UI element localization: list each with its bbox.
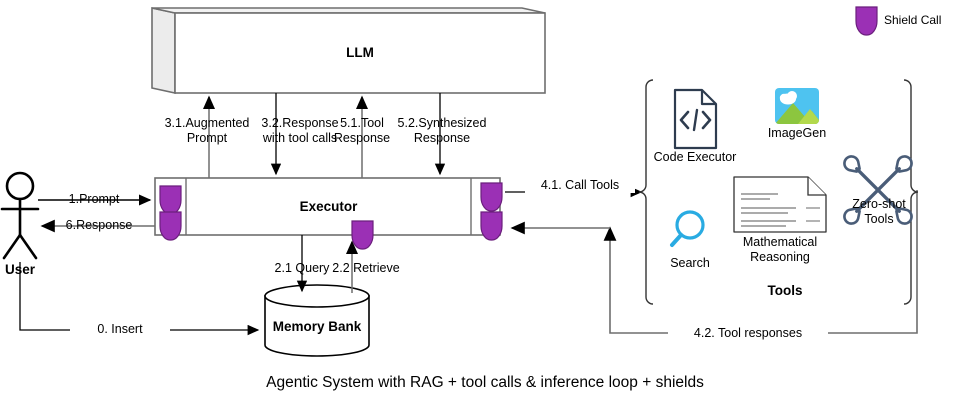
magnifier-icon[interactable] bbox=[672, 212, 703, 245]
shield-memory-icon bbox=[352, 221, 373, 249]
user-actor[interactable] bbox=[2, 173, 38, 258]
tool-label-search: Search bbox=[650, 256, 730, 271]
code-document-icon[interactable] bbox=[675, 90, 716, 148]
edge-label-response: 6.Response bbox=[44, 218, 154, 233]
edge-label-synthesized-response: 5.2.Synthesized Response bbox=[372, 116, 512, 146]
edge-label-retrieve: 2.2 Retrieve bbox=[316, 261, 416, 276]
edge-label-prompt: 1.Prompt bbox=[44, 192, 144, 207]
diagram-vector-layer bbox=[0, 0, 970, 411]
tools-group-label: Tools bbox=[730, 283, 840, 298]
edge-insert bbox=[20, 262, 258, 330]
shield-input-icon bbox=[160, 186, 181, 214]
tool-label-imagegen: ImageGen bbox=[747, 126, 847, 141]
diagram-canvas: LLM Executor Memory Bank User 1.Prompt 6… bbox=[0, 0, 970, 411]
tool-label-zero-shot-tools: Zero-shot Tools bbox=[838, 197, 920, 227]
shield-tool-response-icon bbox=[481, 212, 502, 240]
shield-tool-call-icon bbox=[481, 183, 502, 211]
user-label: User bbox=[0, 262, 50, 277]
tool-label-mathematical-reasoning: Mathematical Reasoning bbox=[725, 235, 835, 265]
diagram-caption: Agentic System with RAG + tool calls & i… bbox=[0, 374, 970, 392]
legend-label: Shield Call bbox=[884, 13, 970, 27]
memory-bank-label: Memory Bank bbox=[265, 319, 369, 334]
tool-label-code-executor: Code Executor bbox=[640, 150, 750, 165]
executor-label: Executor bbox=[186, 199, 471, 214]
shield-output-icon bbox=[160, 212, 181, 240]
edge-label-insert: 0. Insert bbox=[70, 322, 170, 337]
tools-group-brace-right bbox=[904, 80, 918, 304]
formula-document-icon[interactable] bbox=[734, 177, 826, 232]
edge-label-tool-responses: 4.2. Tool responses bbox=[668, 326, 828, 341]
image-icon[interactable] bbox=[775, 88, 819, 124]
llm-label: LLM bbox=[175, 45, 545, 60]
edge-label-call-tools: 4.1. Call Tools bbox=[525, 178, 635, 193]
legend-shield-icon bbox=[856, 7, 877, 35]
